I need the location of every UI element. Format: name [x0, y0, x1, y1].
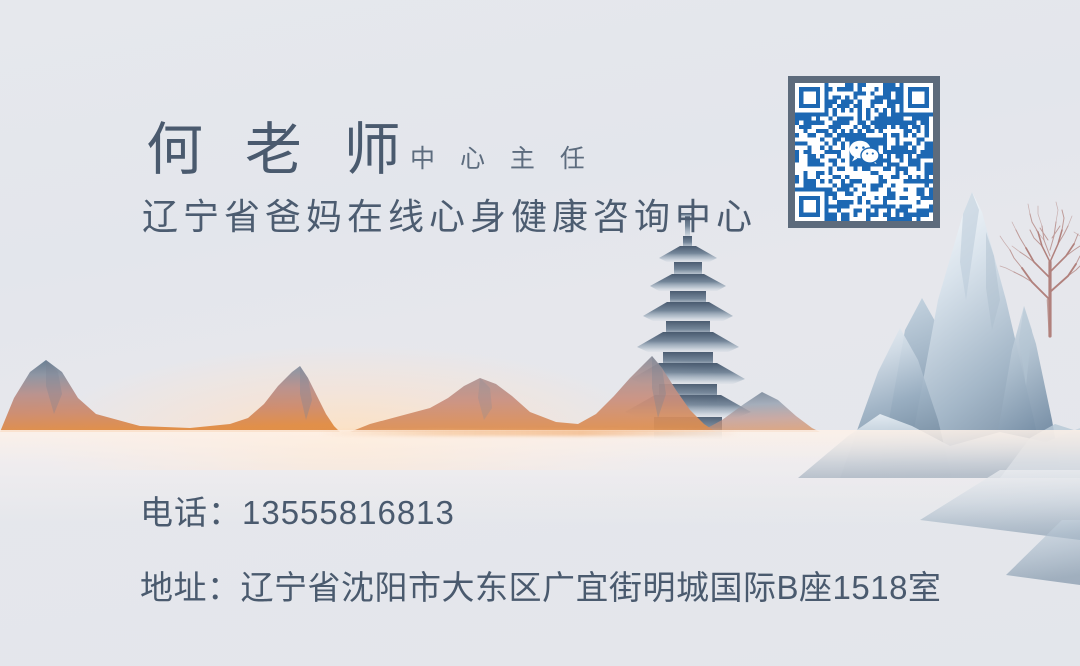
- water-surface: [0, 430, 1080, 666]
- wechat-qr-code[interactable]: [788, 76, 940, 228]
- person-name: 何 老 师: [146, 104, 414, 186]
- organization-name: 辽宁省爸妈在线心身健康咨询中心: [142, 188, 757, 240]
- address-line: 地址：辽宁省沈阳市大东区广宜街明城国际B座1518室: [140, 561, 941, 609]
- person-title: 中 心 主 任: [410, 139, 594, 175]
- qr-code-field: [795, 83, 933, 221]
- phone-line: 电话：13555816813: [140, 486, 455, 534]
- business-card: 何 老 师 中 心 主 任 辽宁省爸妈在线心身健康咨询中心 电话：1355581…: [0, 0, 1080, 666]
- wechat-logo: [847, 138, 881, 166]
- water-reflection-streak: [320, 430, 740, 436]
